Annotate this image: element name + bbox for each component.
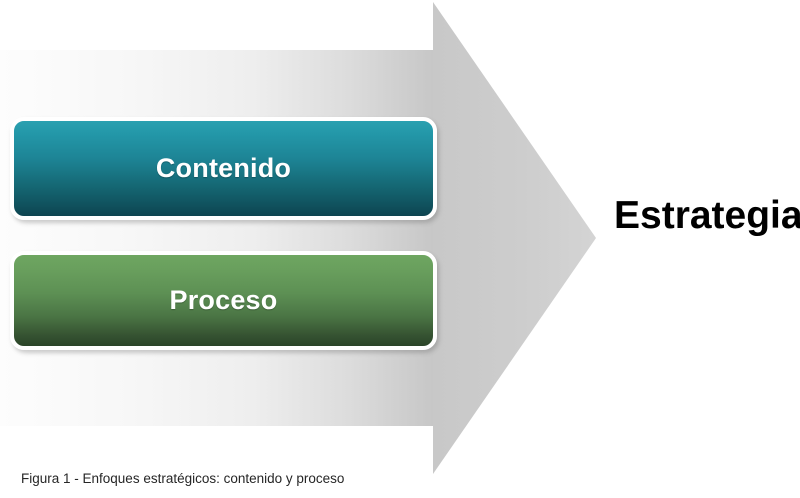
arrow-head [433,2,596,474]
flow-box-proceso-label: Proceso [170,287,278,314]
flow-box-contenido-label: Contenido [156,155,291,182]
right-arrow-icon [0,0,800,498]
arrow-body [0,50,436,426]
flow-box-proceso[interactable]: Proceso [10,251,437,350]
figure-canvas: Contenido Proceso Estrategia Figura 1 - … [0,0,800,498]
outcome-label-estrategia: Estrategia [614,196,800,235]
figure-caption: Figura 1 - Enfoques estratégicos: conten… [21,470,344,488]
flow-box-contenido[interactable]: Contenido [10,117,437,220]
right-arrow-shape [0,0,800,498]
